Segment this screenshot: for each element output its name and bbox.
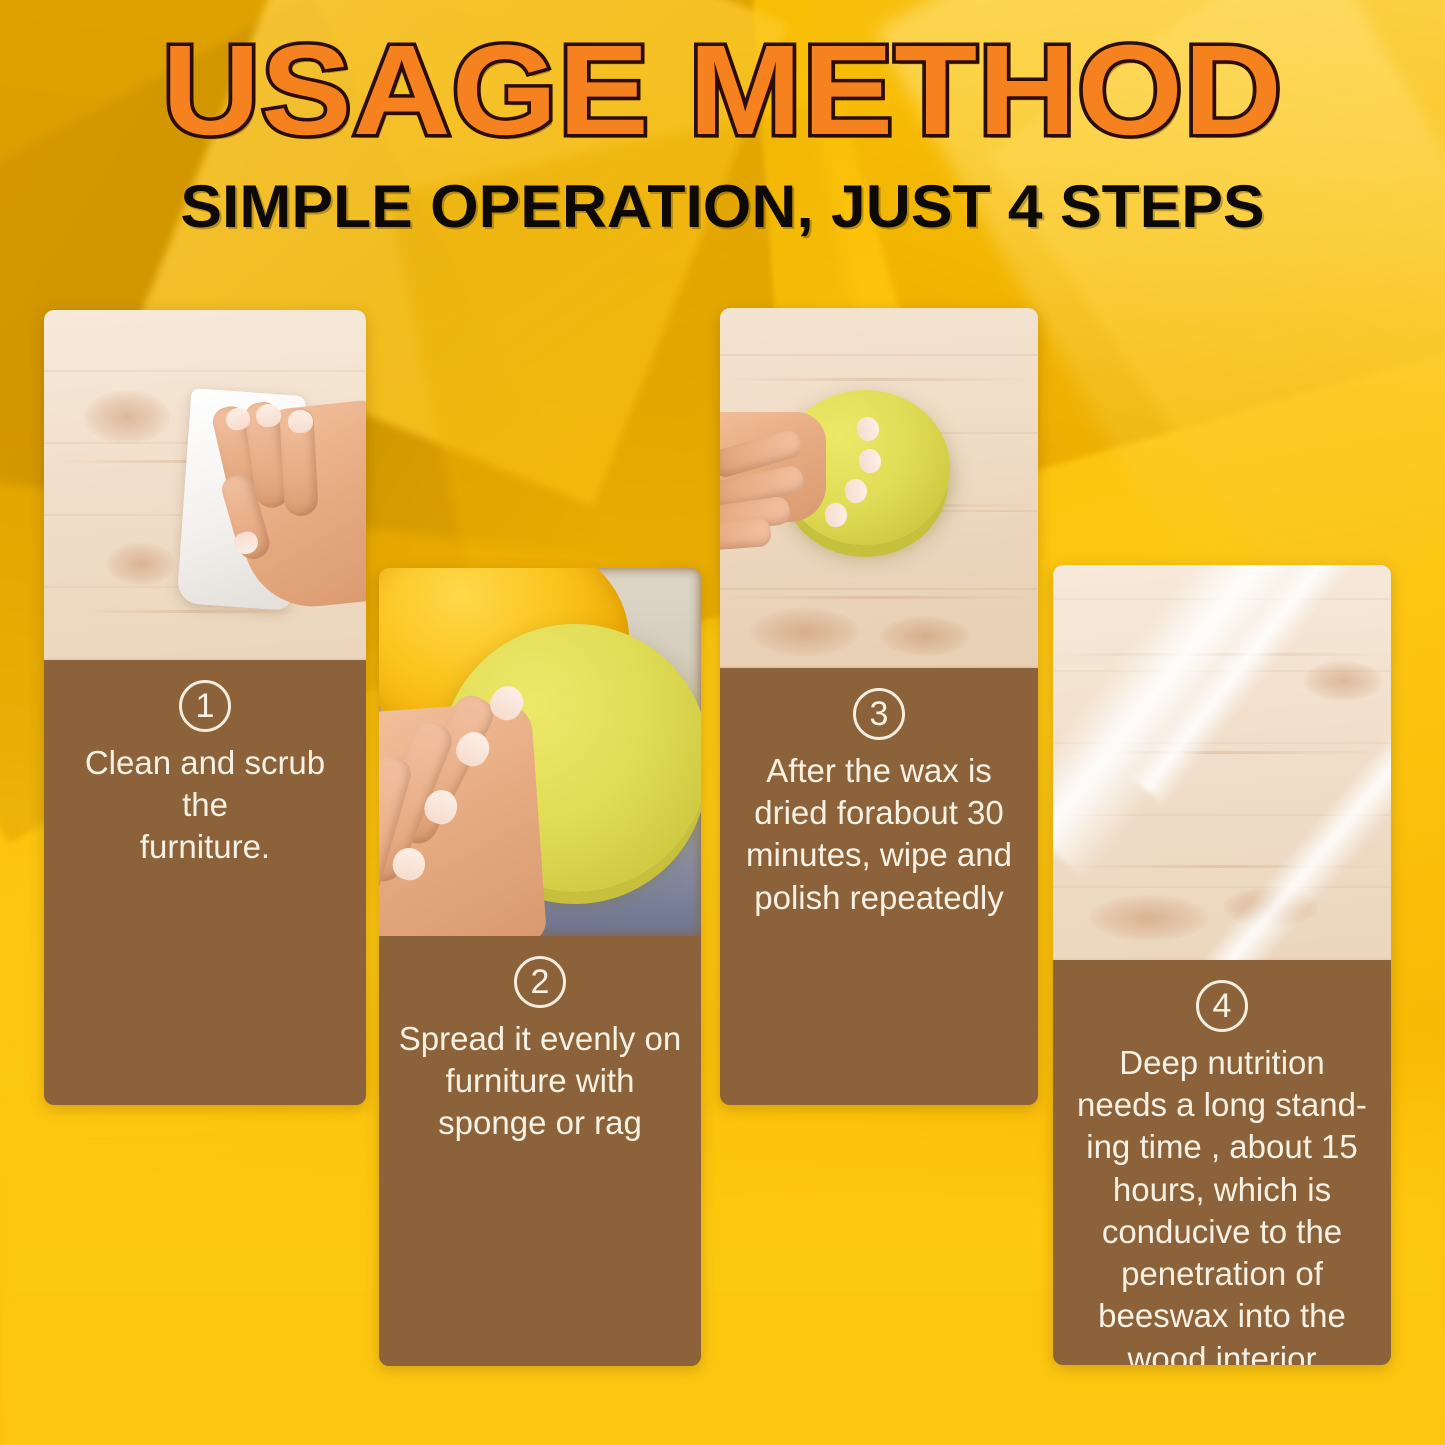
wood-knot xyxy=(106,542,176,586)
wood-grain xyxy=(74,610,304,613)
step-2-body: 2 Spread it evenly on furniture with spo… xyxy=(379,936,701,1163)
wood-grain xyxy=(720,596,1038,599)
step-card-4: 4 Deep nutrition needs a long stand- ing… xyxy=(1053,565,1391,1365)
wood-knot xyxy=(750,608,860,656)
wood-grain xyxy=(720,378,1038,381)
fingernail xyxy=(287,409,313,433)
step-3-body: 3 After the wax is dried forabout 30 min… xyxy=(720,668,1038,937)
step-card-3: 3 After the wax is dried forabout 30 min… xyxy=(720,308,1038,1105)
step-4-photo xyxy=(1053,565,1391,960)
step-number-badge: 3 xyxy=(853,688,905,740)
step-number-badge: 2 xyxy=(514,956,566,1008)
poster-heading-group: USAGE METHOD SIMPLE OPERATION, JUST 4 ST… xyxy=(0,24,1445,241)
usage-method-poster: USAGE METHOD SIMPLE OPERATION, JUST 4 ST… xyxy=(0,0,1445,1445)
wood-knot xyxy=(1303,661,1383,701)
wood-knot xyxy=(880,616,970,656)
step-caption: After the wax is dried forabout 30 minut… xyxy=(734,750,1024,919)
page-subtitle: SIMPLE OPERATION, JUST 4 STEPS xyxy=(0,172,1445,241)
step-card-2: 2 Spread it evenly on furniture with spo… xyxy=(379,568,701,1366)
step-caption: Spread it evenly on furniture with spong… xyxy=(393,1018,687,1145)
step-3-photo xyxy=(720,308,1038,668)
step-4-body: 4 Deep nutrition needs a long stand- ing… xyxy=(1053,960,1391,1365)
step-1-photo xyxy=(44,310,366,660)
step-number-badge: 4 xyxy=(1196,980,1248,1032)
wood-knot xyxy=(1089,895,1209,941)
step-number-badge: 1 xyxy=(179,680,231,732)
step-1-body: 1 Clean and scrub the furniture. xyxy=(44,660,366,887)
wood-knot xyxy=(84,390,170,444)
step-caption: Deep nutrition needs a long stand- ing t… xyxy=(1067,1042,1377,1365)
page-title: USAGE METHOD xyxy=(0,24,1445,158)
step-2-photo xyxy=(379,568,701,936)
step-card-1: 1 Clean and scrub the furniture. xyxy=(44,310,366,1105)
step-caption: Clean and scrub the furniture. xyxy=(58,742,352,869)
